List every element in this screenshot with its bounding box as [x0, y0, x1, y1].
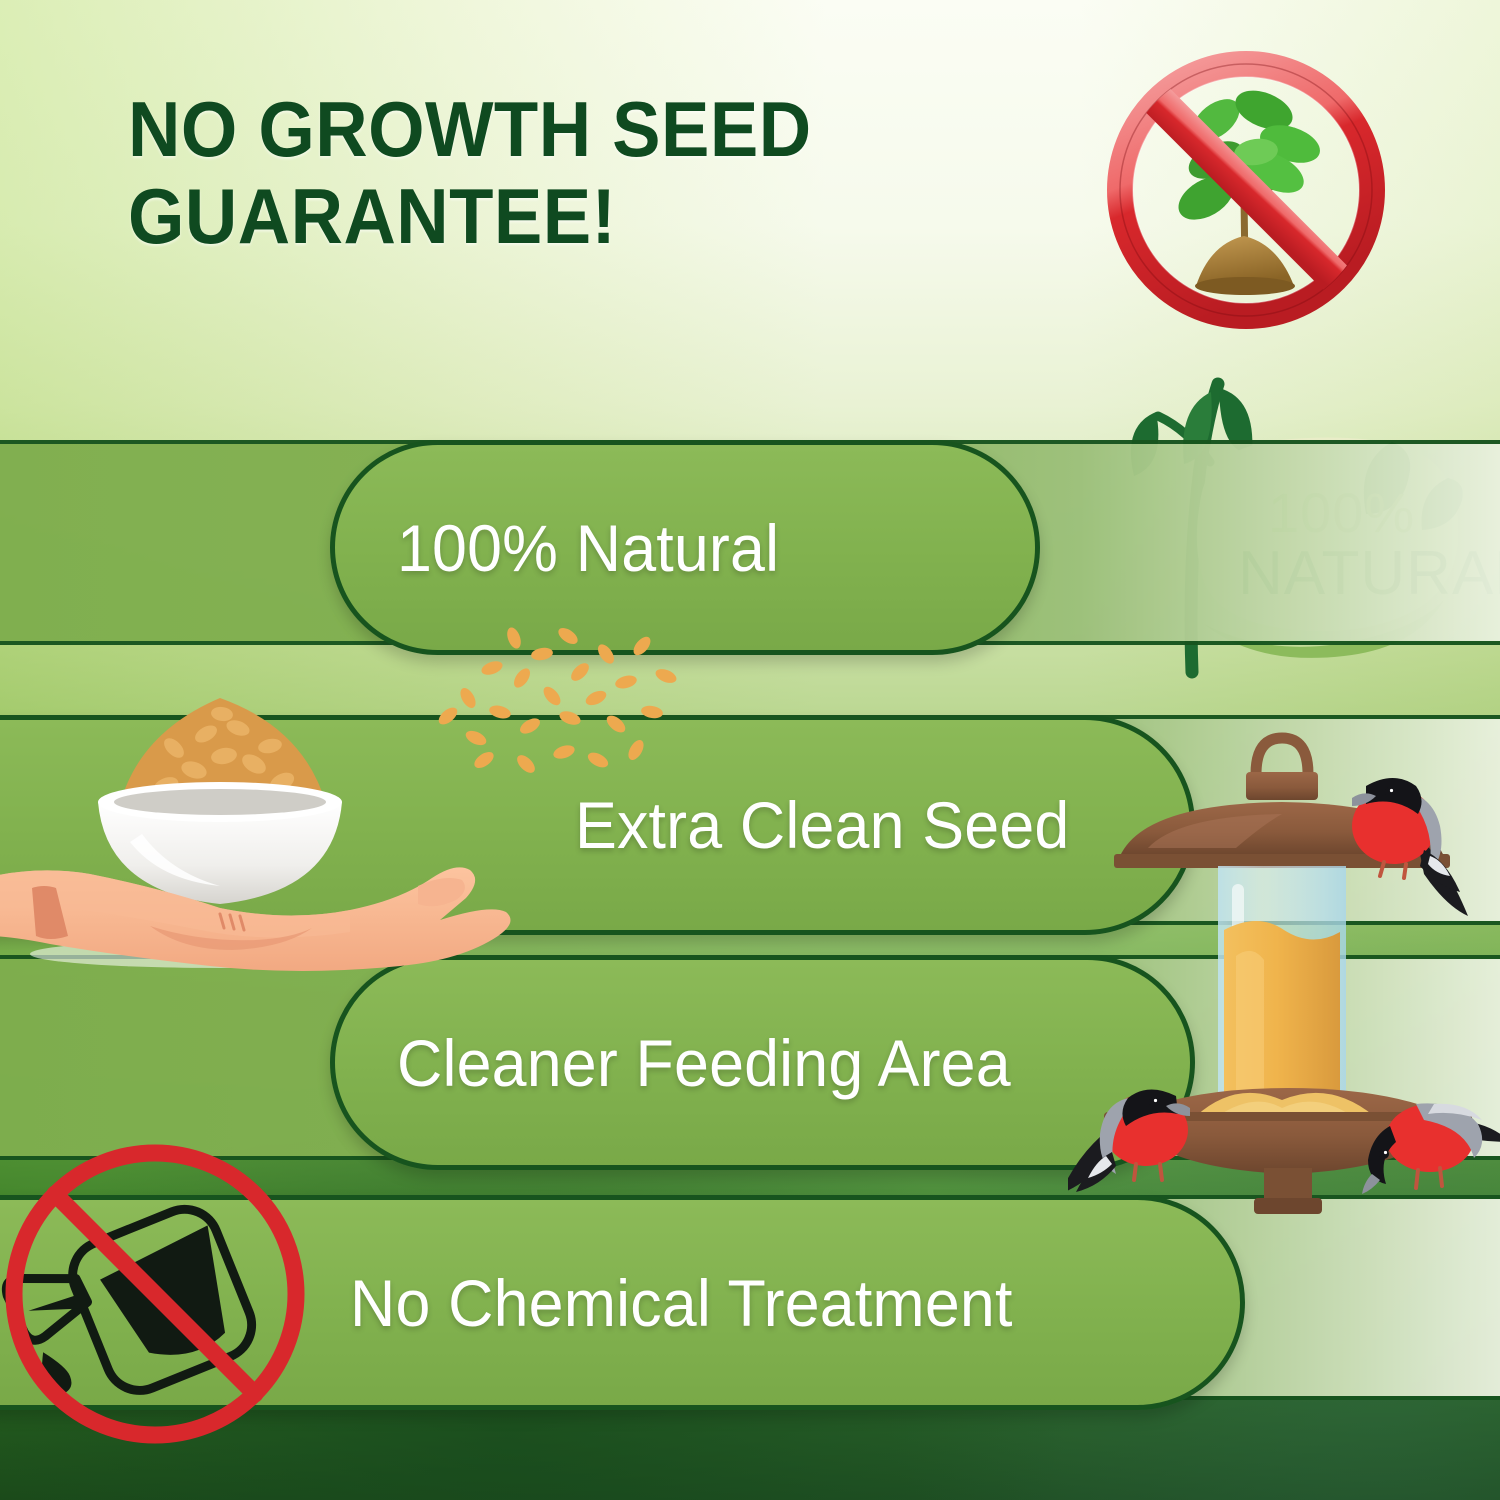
headline-line-1: NO GROWTH SEED: [128, 85, 812, 173]
hand-holding-seed-bowl-illustration: [0, 636, 530, 986]
infographic-canvas: NO GROWTH SEED GUARANTEE!: [0, 0, 1500, 1500]
feature-label-cleaner-area: Cleaner Feeding Area: [397, 1025, 1011, 1101]
feature-label-extra-clean: Extra Clean Seed: [575, 787, 1069, 863]
no-chemical-treatment-icon: [0, 1133, 316, 1455]
feature-label-no-chemical: No Chemical Treatment: [350, 1265, 1013, 1341]
page-title: NO GROWTH SEED GUARANTEE!: [128, 86, 993, 261]
feature-band-natural: 100% Natural: [0, 440, 1500, 645]
bird-feeder-with-bullfinches-illustration: [1068, 716, 1500, 1226]
headline-line-2: GUARANTEE!: [128, 173, 993, 260]
feature-pill-cleaner-area[interactable]: Cleaner Feeding Area: [330, 955, 1195, 1170]
feature-label-natural: 100% Natural: [397, 510, 779, 586]
no-plant-growth-icon: [1104, 48, 1388, 332]
